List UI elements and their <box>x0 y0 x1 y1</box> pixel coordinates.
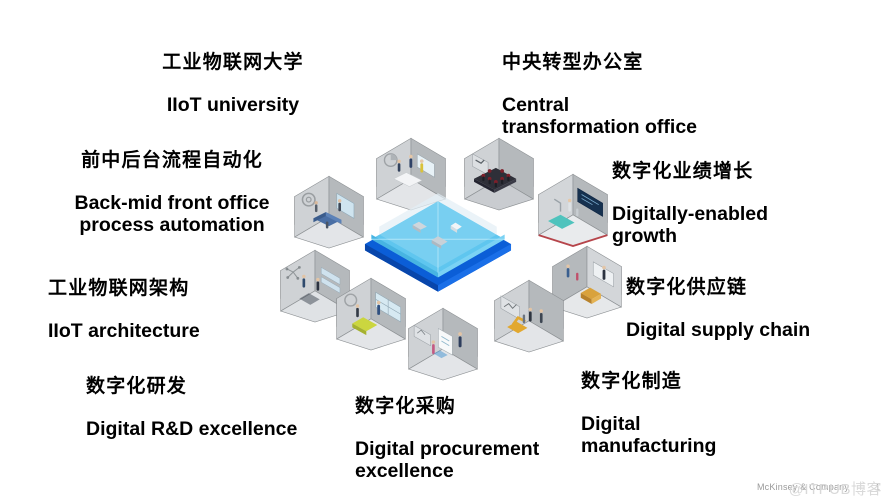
label-digital-supply-chain: 数字化供应链 Digital supply chain <box>626 258 876 360</box>
label-central-transformation-office: 中央转型办公室 Central transformation office <box>502 33 792 158</box>
slide-canvas: 工业物联网大学 IIoT university 中央转型办公室 Central … <box>0 0 890 501</box>
central-platform <box>358 198 518 298</box>
label-en-central-transformation-office: Central transformation office <box>502 94 792 140</box>
room-cube-back-mid-front-office <box>290 170 368 248</box>
label-en-digital-procurement-excellence: Digital procurement excellence <box>355 438 587 484</box>
label-en-digital-supply-chain: Digital supply chain <box>626 319 876 342</box>
label-cn-central-transformation-office: 中央转型办公室 <box>502 51 792 74</box>
label-en-iiot-architecture: IIoT architecture <box>48 320 288 343</box>
label-cn-digitally-enabled-growth: 数字化业绩增长 <box>612 160 872 183</box>
label-en-digital-rd-excellence: Digital R&D excellence <box>86 418 356 441</box>
label-cn-digital-procurement-excellence: 数字化采购 <box>355 395 587 418</box>
label-iiot-university: 工业物联网大学 IIoT university <box>108 33 358 135</box>
label-cn-digital-supply-chain: 数字化供应链 <box>626 276 876 299</box>
room-cube-digitally-enabled-growth <box>534 168 612 246</box>
label-cn-digital-rd-excellence: 数字化研发 <box>86 375 356 398</box>
label-digital-procurement-excellence: 数字化采购 Digital procurement excellence <box>355 377 587 501</box>
mckinsey-brand: McKinsey & Company <box>757 482 849 492</box>
label-digitally-enabled-growth: 数字化业绩增长 Digitally-enabled growth <box>612 142 872 267</box>
page-number: 1 <box>876 483 880 492</box>
label-cn-iiot-architecture: 工业物联网架构 <box>48 277 288 300</box>
label-en-back-mid-front-office: Back-mid front office process automation <box>48 192 296 238</box>
isometric-transformation-illustration <box>276 126 596 362</box>
label-digital-manufacturing: 数字化制造 Digital manufacturing <box>581 352 791 477</box>
label-cn-iiot-university: 工业物联网大学 <box>108 51 358 74</box>
label-cn-digital-manufacturing: 数字化制造 <box>581 370 791 393</box>
label-digital-rd-excellence: 数字化研发 Digital R&D excellence <box>86 357 356 459</box>
label-cn-back-mid-front-office: 前中后台流程自动化 <box>48 149 296 172</box>
label-iiot-architecture: 工业物联网架构 IIoT architecture <box>48 259 288 361</box>
label-back-mid-front-office: 前中后台流程自动化 Back-mid front office process … <box>48 131 296 256</box>
slide-footer: McKinsey & Company 1 <box>757 477 880 495</box>
room-cube-digital-procurement-excellence <box>404 302 482 380</box>
label-en-digitally-enabled-growth: Digitally-enabled growth <box>612 203 872 249</box>
label-en-iiot-university: IIoT university <box>108 94 358 117</box>
label-en-digital-manufacturing: Digital manufacturing <box>581 413 791 459</box>
